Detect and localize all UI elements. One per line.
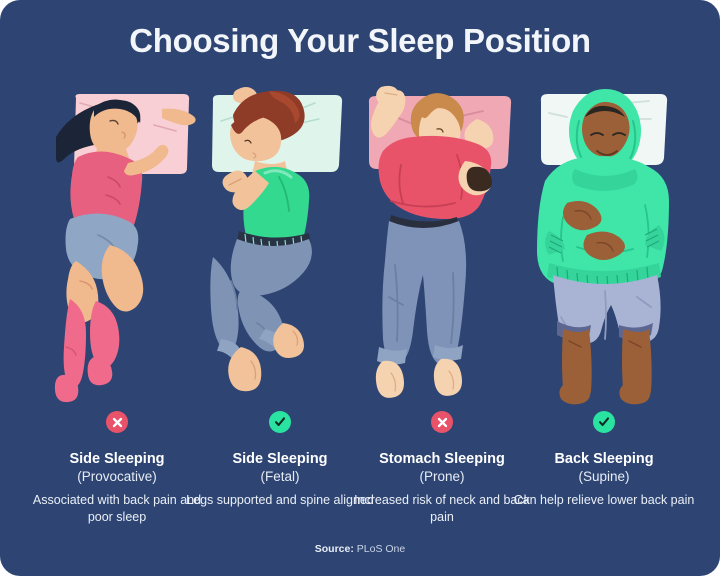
status-badge-side-provocative (106, 411, 128, 433)
page-title: Choosing Your Sleep Position (0, 22, 720, 60)
source-attribution: Source: PLoS One (0, 543, 720, 555)
sleeper-side-fetal-illustration (199, 85, 362, 405)
check-circle-icon (597, 415, 611, 429)
caption-title: Back Sleeping (509, 450, 699, 468)
status-badge-stomach-prone (431, 411, 453, 433)
infographic-card: Choosing Your Sleep Position (0, 0, 720, 576)
figure-column-side-fetal (199, 85, 362, 425)
caption-side-provocative: Side Sleeping (Provocative) Associated w… (22, 450, 212, 525)
caption-description: Associated with back pain and poor sleep (22, 492, 212, 525)
check-circle-icon (273, 415, 287, 429)
caption-description: Can help relieve lower back pain (509, 492, 699, 509)
status-badge-back-supine (593, 411, 615, 433)
source-value: PLoS One (357, 543, 405, 555)
status-badge-side-fetal (269, 411, 291, 433)
caption-back-supine: Back Sleeping (Supine) Can help relieve … (509, 450, 699, 509)
x-circle-icon (436, 416, 449, 429)
source-label: Source: (315, 543, 354, 555)
sleeper-back-supine-illustration (523, 85, 686, 405)
figure-column-back-supine (523, 85, 686, 425)
caption-title: Side Sleeping (22, 450, 212, 468)
figure-column-stomach-prone (361, 85, 524, 425)
sleeper-side-provocative-illustration (36, 85, 199, 405)
caption-subtitle: (Provocative) (22, 468, 212, 485)
figure-column-side-provocative (36, 85, 199, 425)
sleeper-stomach-prone-illustration (361, 85, 524, 405)
x-circle-icon (111, 416, 124, 429)
caption-subtitle: (Supine) (509, 468, 699, 485)
